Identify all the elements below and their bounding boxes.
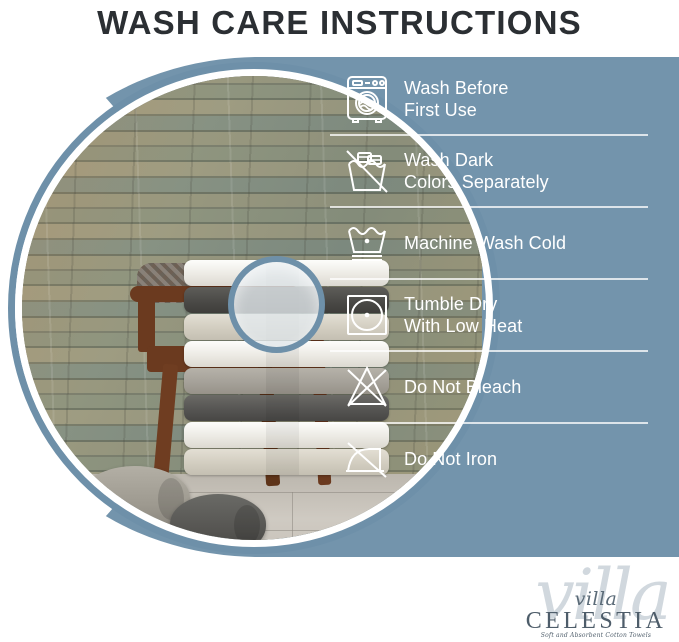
care-label: Do Not Iron <box>404 448 497 471</box>
care-label: Tumble Dry With Low Heat <box>404 293 522 338</box>
care-label: Wash Before First Use <box>404 77 508 122</box>
care-row-tumble-dry-with-low-heat: Tumble Dry With Low Heat <box>330 280 648 352</box>
page-title: WASH CARE INSTRUCTIONS <box>0 0 679 50</box>
tumble-dry-low-heat-icon <box>330 292 404 338</box>
no-mixed-colors-wash-icon <box>330 148 404 194</box>
care-row-wash-dark-colors-separately: Wash Dark Colors Separately <box>330 136 648 208</box>
chair-post <box>138 298 155 352</box>
frosted-accent-circle <box>228 256 325 353</box>
brand-logo: villa villa CELESTIA Soft and Absorbent … <box>520 558 672 642</box>
care-label: Wash Dark Colors Separately <box>404 149 549 194</box>
care-label: Machine Wash Cold <box>404 232 566 255</box>
brand-tagline: Soft and Absorbent Cotton Towels <box>520 632 672 639</box>
care-row-machine-wash-cold: Machine Wash Cold <box>330 208 648 280</box>
brand-script: villa <box>520 588 672 610</box>
care-row-wash-before-first-use: Wash Before First Use <box>330 64 648 136</box>
care-row-do-not-iron: Do Not Iron <box>330 424 648 494</box>
care-label: Do Not Bleach <box>404 376 521 399</box>
brand-name: CELESTIA <box>520 608 672 635</box>
machine-wash-cold-icon <box>330 221 404 265</box>
do-not-bleach-icon <box>330 364 404 410</box>
do-not-iron-icon <box>330 437 404 481</box>
care-row-do-not-bleach: Do Not Bleach <box>330 352 648 424</box>
care-instruction-list: Wash Before First Use Wash Dark Colors S… <box>330 64 648 494</box>
washing-machine-icon <box>330 74 404 124</box>
wash-care-infographic: WASH CARE INSTRUCTIONS <box>0 0 679 642</box>
